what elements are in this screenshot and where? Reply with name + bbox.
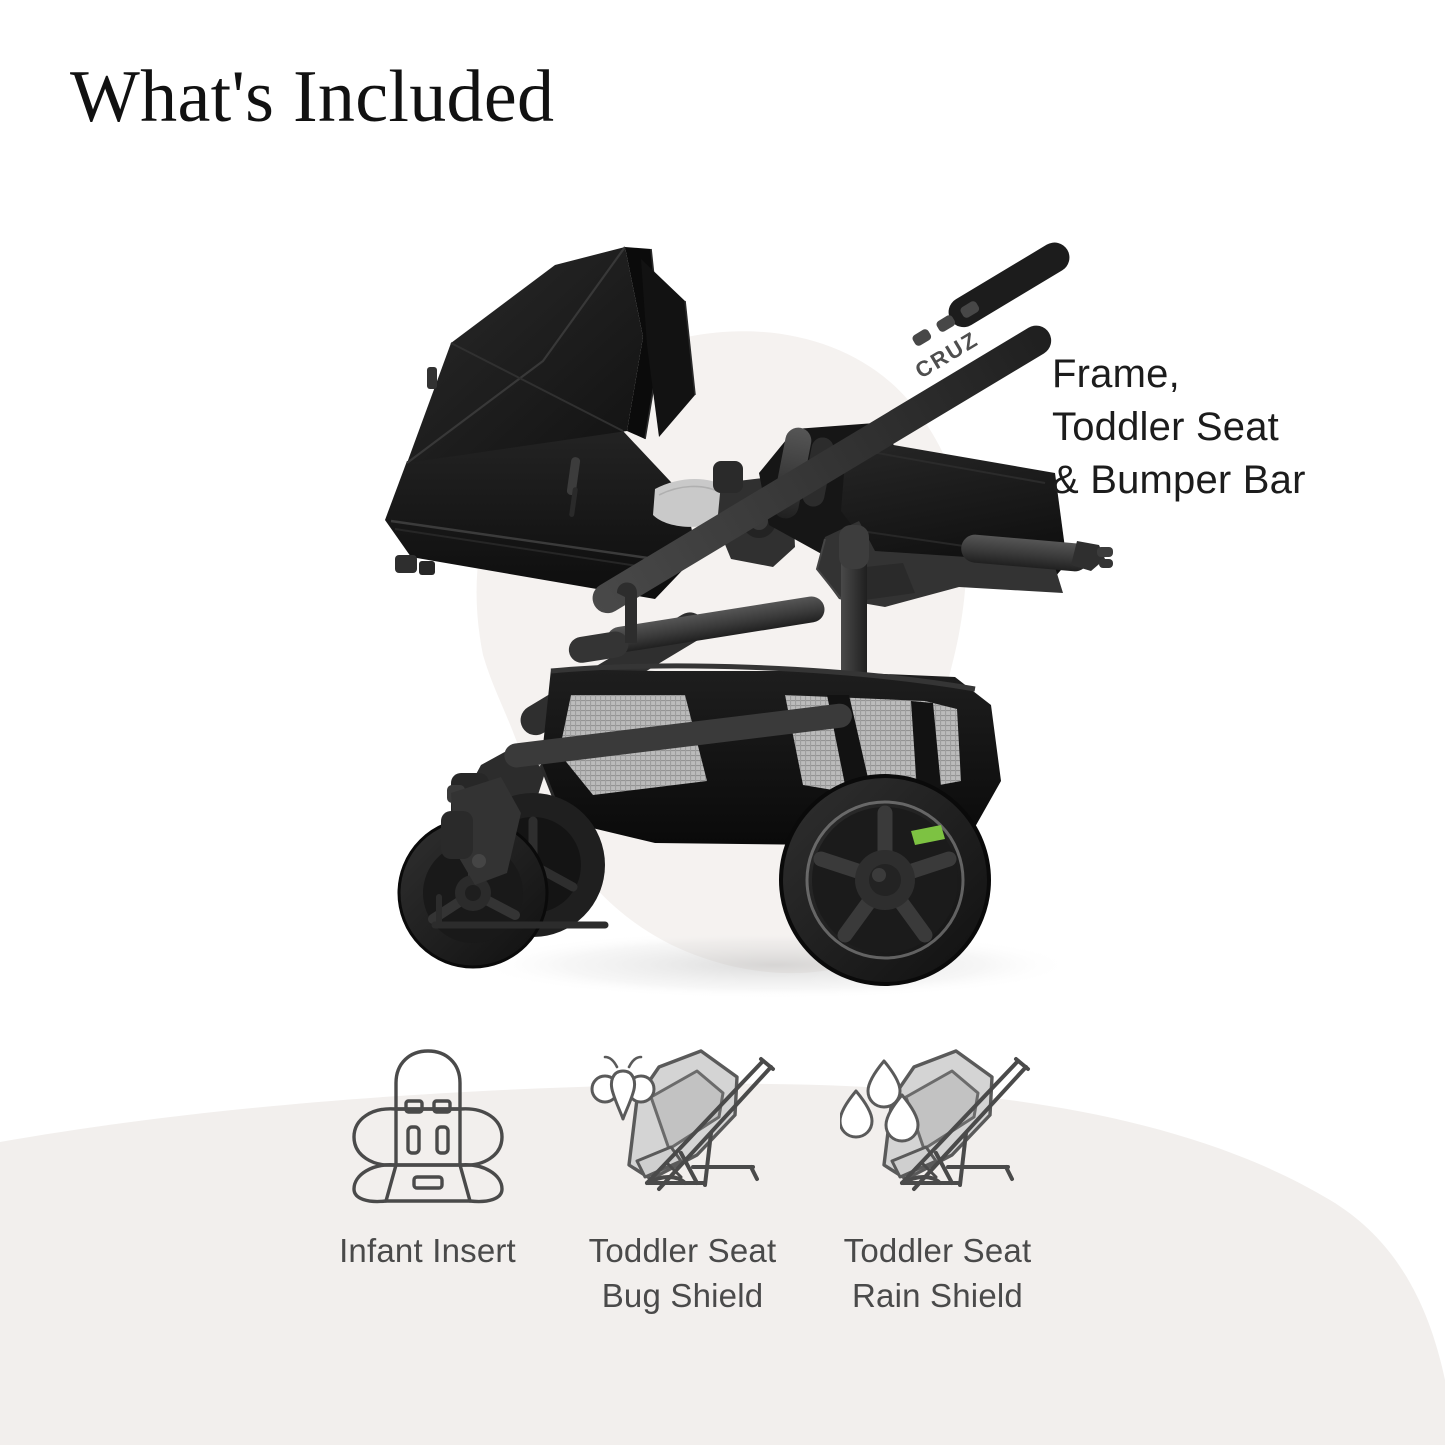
stroller-hero-image: CRUZ [355, 225, 1125, 1015]
hero-callout-label: Frame, Toddler Seat & Bumper Bar [1052, 348, 1306, 508]
accessory-caption: Toddler Seat Bug Shield [589, 1229, 777, 1318]
toddler-seat-rain-shield-icon [840, 1035, 1035, 1205]
callout-line-3: & Bumper Bar [1052, 454, 1306, 507]
accessory-infant-insert: Infant Insert [300, 1035, 555, 1274]
ground-shadow [475, 931, 1075, 999]
stroller-illustration: CRUZ [355, 225, 1125, 1015]
callout-line-2: Toddler Seat [1052, 401, 1306, 454]
toddler-seat-bug-shield-icon [585, 1035, 780, 1205]
rear-wheel [781, 776, 989, 984]
accessory-caption: Toddler Seat Rain Shield [844, 1229, 1032, 1318]
accessory-caption: Infant Insert [339, 1229, 516, 1274]
accessory-bug-shield: Toddler Seat Bug Shield [555, 1035, 810, 1318]
infant-insert-icon [342, 1035, 514, 1205]
page-title: What's Included [70, 55, 554, 140]
raindrop-icon [840, 1061, 918, 1141]
callout-line-1: Frame, [1052, 348, 1306, 401]
accessory-rain-shield: Toddler Seat Rain Shield [810, 1035, 1065, 1318]
accessories-row: Infant Insert [300, 1035, 1140, 1335]
handle-grip [943, 237, 1075, 333]
